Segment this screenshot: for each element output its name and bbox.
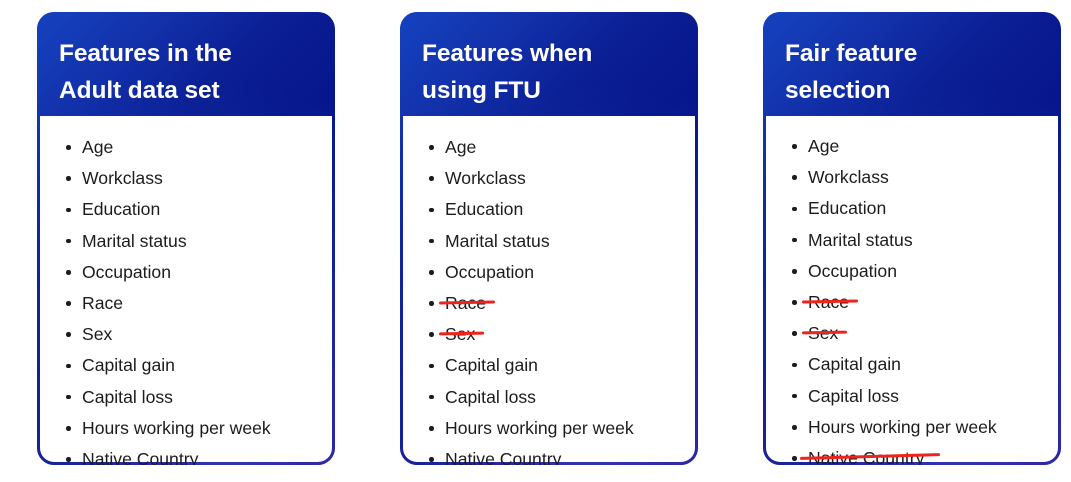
feature-label: Capital loss xyxy=(808,381,899,412)
list-item: Native Country xyxy=(403,444,695,465)
list-item: Age xyxy=(40,132,332,163)
bullet-icon xyxy=(429,301,434,306)
feature-label: Education xyxy=(445,194,523,225)
list-item: Occupation xyxy=(403,257,695,288)
list-item: Hours working per week xyxy=(403,413,695,444)
bullet-icon xyxy=(429,364,434,369)
feature-card-2: Features when using FTU Age Workclass Ed… xyxy=(400,12,698,465)
feature-label: Occupation xyxy=(445,257,534,288)
bullet-icon xyxy=(792,363,797,368)
bullet-icon xyxy=(792,394,797,399)
bullet-icon xyxy=(66,239,71,244)
list-item: Occupation xyxy=(40,257,332,288)
bullet-icon xyxy=(66,426,71,431)
feature-label: Hours working per week xyxy=(82,413,271,444)
feature-label: Marital status xyxy=(808,225,913,256)
list-item-removed: Sex xyxy=(766,318,1058,349)
bullet-icon xyxy=(429,395,434,400)
bullet-icon xyxy=(66,457,71,462)
bullet-icon xyxy=(429,270,434,275)
card-body-3: Age Workclass Education Marital status O… xyxy=(766,116,1058,462)
list-item-removed: Native Country xyxy=(766,443,1058,465)
feature-label: Age xyxy=(82,132,113,163)
feature-label: Workclass xyxy=(82,163,163,194)
feature-label: Hours working per week xyxy=(445,413,634,444)
list-item: Capital loss xyxy=(403,382,695,413)
bullet-icon xyxy=(429,145,434,150)
list-item: Race xyxy=(40,288,332,319)
list-item: Capital gain xyxy=(403,350,695,381)
list-item: Workclass xyxy=(403,163,695,194)
feature-label: Capital gain xyxy=(82,350,175,381)
feature-list-3: Age Workclass Education Marital status O… xyxy=(766,116,1058,465)
feature-label: Occupation xyxy=(808,256,897,287)
list-item: Hours working per week xyxy=(40,413,332,444)
bullet-icon xyxy=(429,176,434,181)
bullet-icon xyxy=(66,395,71,400)
list-item: Education xyxy=(40,194,332,225)
feature-label: Race xyxy=(82,288,123,319)
list-item: Capital loss xyxy=(40,382,332,413)
feature-label: Workclass xyxy=(445,163,526,194)
bullet-icon xyxy=(66,208,71,213)
feature-label-struck: Race xyxy=(808,287,849,318)
card-header-3: Fair feature selection xyxy=(763,12,1061,116)
list-item: Age xyxy=(766,131,1058,162)
list-item: Workclass xyxy=(766,162,1058,193)
list-item: Hours working per week xyxy=(766,412,1058,443)
bullet-icon xyxy=(792,207,797,212)
bullet-icon xyxy=(792,425,797,430)
bullet-icon xyxy=(792,175,797,180)
feature-label: Capital loss xyxy=(445,382,536,413)
list-item: Education xyxy=(403,194,695,225)
card-title: Features in the Adult data set xyxy=(59,35,313,109)
feature-label: Sex xyxy=(82,319,112,350)
list-item: Marital status xyxy=(403,226,695,257)
feature-label: Native Country xyxy=(445,444,561,465)
feature-label-struck: Sex xyxy=(808,318,838,349)
bullet-icon xyxy=(66,145,71,150)
card-header-1: Features in the Adult data set xyxy=(37,12,335,116)
list-item: Marital status xyxy=(766,225,1058,256)
list-item: Sex xyxy=(40,319,332,350)
feature-card-3: Fair feature selection Age Workclass Edu… xyxy=(763,12,1061,465)
feature-label: Age xyxy=(808,131,839,162)
feature-label: Hours working per week xyxy=(808,412,997,443)
bullet-icon xyxy=(66,364,71,369)
list-item: Occupation xyxy=(766,256,1058,287)
list-item: Age xyxy=(403,132,695,163)
figure-canvas: Features in the Adult data set Age Workc… xyxy=(0,0,1071,482)
list-item-removed: Sex xyxy=(403,319,695,350)
bullet-icon xyxy=(792,331,797,336)
list-item: Capital loss xyxy=(766,381,1058,412)
bullet-icon xyxy=(429,426,434,431)
bullet-icon xyxy=(792,269,797,274)
bullet-icon xyxy=(66,270,71,275)
feature-label-struck: Sex xyxy=(445,319,475,350)
feature-label: Education xyxy=(808,193,886,224)
feature-label: Marital status xyxy=(445,226,550,257)
feature-label: Native Country xyxy=(82,444,198,465)
bullet-icon xyxy=(792,456,797,461)
feature-label: Capital loss xyxy=(82,382,173,413)
bullet-icon xyxy=(429,457,434,462)
list-item: Education xyxy=(766,193,1058,224)
bullet-icon xyxy=(66,301,71,306)
feature-label-struck: Native Country xyxy=(808,443,924,465)
list-item: Marital status xyxy=(40,226,332,257)
feature-label: Capital gain xyxy=(445,350,538,381)
list-item-removed: Race xyxy=(403,288,695,319)
bullet-icon xyxy=(66,332,71,337)
feature-label: Age xyxy=(445,132,476,163)
bullet-icon xyxy=(429,208,434,213)
bullet-icon xyxy=(66,176,71,181)
list-item: Native Country xyxy=(40,444,332,465)
feature-label: Capital gain xyxy=(808,349,901,380)
feature-label: Occupation xyxy=(82,257,171,288)
list-item: Capital gain xyxy=(766,349,1058,380)
bullet-icon xyxy=(792,238,797,243)
bullet-icon xyxy=(792,300,797,305)
bullet-icon xyxy=(429,332,434,337)
feature-card-1: Features in the Adult data set Age Workc… xyxy=(37,12,335,465)
bullet-icon xyxy=(792,144,797,149)
feature-label: Workclass xyxy=(808,162,889,193)
feature-label-struck: Race xyxy=(445,288,486,319)
card-body-1: Age Workclass Education Marital status O… xyxy=(40,116,332,462)
card-header-2: Features when using FTU xyxy=(400,12,698,116)
list-item: Workclass xyxy=(40,163,332,194)
card-title: Fair feature selection xyxy=(785,35,1039,109)
feature-list-2: Age Workclass Education Marital status O… xyxy=(403,116,695,465)
feature-label: Education xyxy=(82,194,160,225)
card-body-2: Age Workclass Education Marital status O… xyxy=(403,116,695,462)
card-title: Features when using FTU xyxy=(422,35,676,109)
bullet-icon xyxy=(429,239,434,244)
feature-label: Marital status xyxy=(82,226,187,257)
feature-list-1: Age Workclass Education Marital status O… xyxy=(40,116,332,465)
list-item: Capital gain xyxy=(40,350,332,381)
list-item-removed: Race xyxy=(766,287,1058,318)
